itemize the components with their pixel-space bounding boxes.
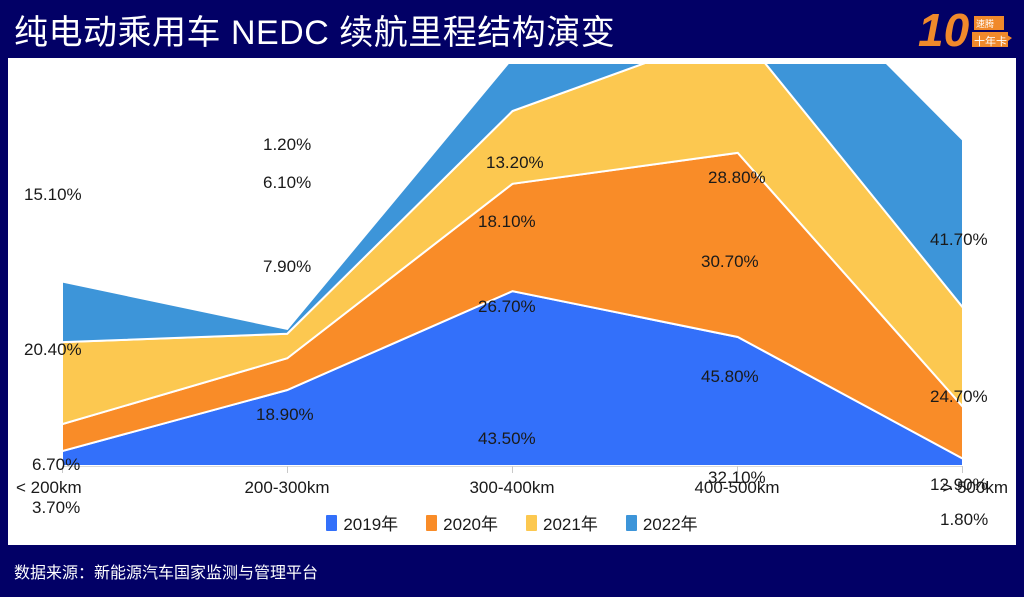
legend-label: 2021年 xyxy=(543,510,598,535)
logo-text-bottom: 十年卡 xyxy=(974,34,1007,48)
x-tick-4 xyxy=(962,466,963,473)
footer-bar: 数据来源：新能源汽车国家监测与管理平台 xyxy=(0,545,1024,597)
legend-item-2019年[interactable]: 2019年 xyxy=(326,510,398,535)
value-label: 7.90% xyxy=(263,258,311,275)
value-label: 43.50% xyxy=(478,430,536,447)
legend-item-2022年[interactable]: 2022年 xyxy=(626,510,698,535)
chart-infographic: 纯电动乘用车 NEDC 续航里程结构演变 10 速腾 十年卡 15.10%20. xyxy=(0,0,1024,597)
chart-legend: 2019年2020年2021年2022年 xyxy=(8,510,1016,535)
legend-item-2020年[interactable]: 2020年 xyxy=(426,510,498,535)
x-label-2: 300-400km xyxy=(469,478,554,498)
value-label: 15.10% xyxy=(24,186,82,203)
value-label: 18.10% xyxy=(478,213,536,230)
legend-item-2021年[interactable]: 2021年 xyxy=(526,510,598,535)
legend-swatch-icon xyxy=(526,515,537,531)
x-tick-2 xyxy=(512,466,513,473)
value-label: 41.70% xyxy=(930,231,988,248)
value-label: 26.70% xyxy=(478,298,536,315)
x-tick-1 xyxy=(287,466,288,473)
value-label: 30.70% xyxy=(701,253,759,270)
value-label: 6.70% xyxy=(32,456,80,473)
value-label: 13.20% xyxy=(486,154,544,171)
legend-swatch-icon xyxy=(426,515,437,531)
legend-swatch-icon xyxy=(326,515,337,531)
value-label: 28.80% xyxy=(708,169,766,186)
svg-text:10: 10 xyxy=(918,4,970,56)
x-label-4: > 500km xyxy=(942,478,1008,498)
chart-panel: 15.10%20.40%6.70%3.70%1.20%6.10%7.90%18.… xyxy=(8,58,1016,545)
value-label: 45.80% xyxy=(701,368,759,385)
legend-swatch-icon xyxy=(626,515,637,531)
legend-label: 2020年 xyxy=(443,510,498,535)
brand-logo: 10 速腾 十年卡 xyxy=(914,0,1016,58)
header-bar: 纯电动乘用车 NEDC 续航里程结构演变 10 速腾 十年卡 xyxy=(0,0,1024,58)
x-label-0: < 200km xyxy=(16,478,82,498)
x-label-1: 200-300km xyxy=(244,478,329,498)
value-label: 1.20% xyxy=(263,136,311,153)
page-title: 纯电动乘用车 NEDC 续航里程结构演变 xyxy=(14,5,615,54)
plot-area xyxy=(62,64,963,466)
data-source-note: 数据来源：新能源汽车国家监测与管理平台 xyxy=(14,559,318,583)
stacked-area-svg xyxy=(62,64,963,466)
legend-label: 2022年 xyxy=(643,510,698,535)
x-label-3: 400-500km xyxy=(694,478,779,498)
value-label: 18.90% xyxy=(256,406,314,423)
value-label: 6.10% xyxy=(263,174,311,191)
value-label: 20.40% xyxy=(24,341,82,358)
value-label: 24.70% xyxy=(930,388,988,405)
logo-text-top: 速腾 xyxy=(976,18,994,29)
legend-label: 2019年 xyxy=(343,510,398,535)
